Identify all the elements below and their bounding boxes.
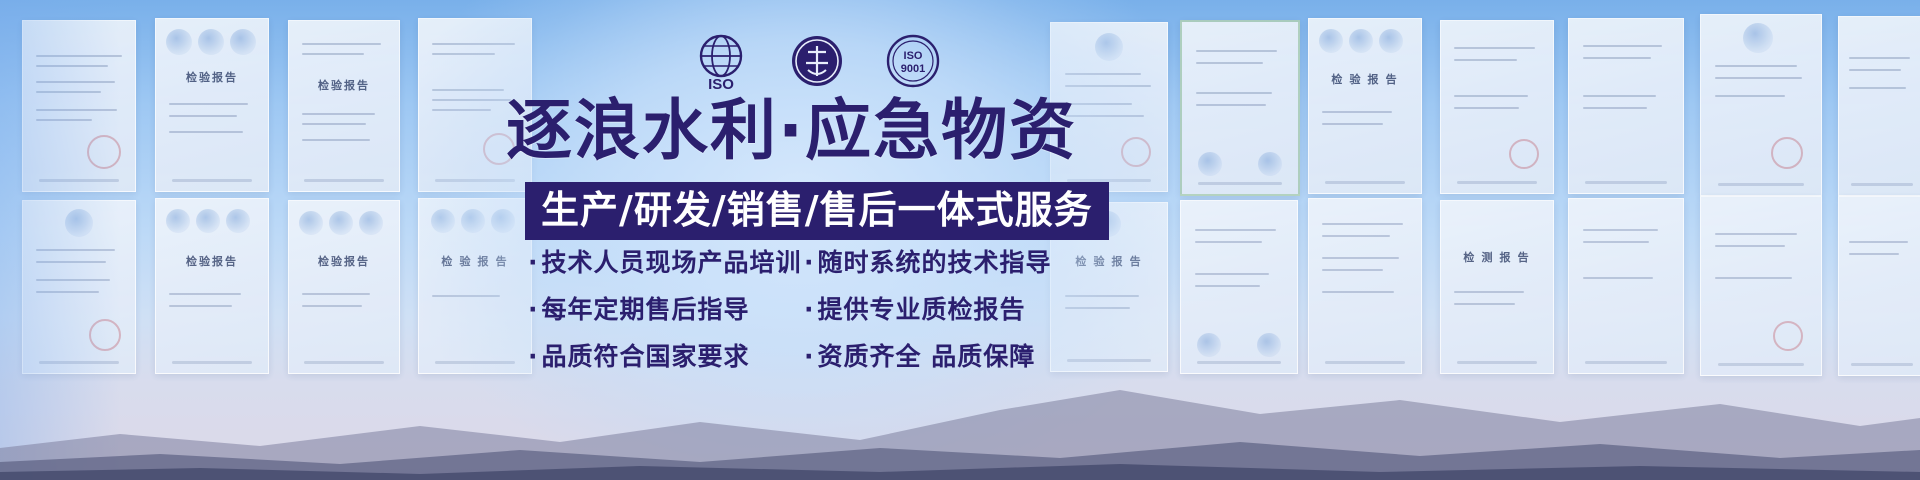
certificate-title: 检 验 报 告 [1331, 71, 1398, 87]
certification-badges: ISO ISO 9001 [690, 30, 944, 92]
feature-text: 每年定期售后指导 [542, 295, 750, 324]
feature-item: ·随时系统的技术指导 [804, 248, 1052, 278]
certificate-thumb [1308, 198, 1422, 374]
certificate-title: 检 验 报 告 [441, 253, 508, 269]
certificate-thumb: 检验报告 [288, 200, 400, 374]
certificate-thumb [1700, 196, 1822, 376]
certificate-thumb: 检验报告 [288, 20, 400, 192]
svg-text:9001: 9001 [901, 63, 925, 75]
banner-headline: 逐浪水利·应急物资 [506, 96, 1077, 166]
feature-list: ·技术人员现场产品培训 ·随时系统的技术指导 ·每年定期售后指导 ·提供专业质检… [528, 248, 1058, 389]
bullet-dot-icon: · [528, 295, 539, 324]
feature-row: ·技术人员现场产品培训 ·随时系统的技术指导 [528, 248, 1058, 278]
banner-subtitle-bar: 生产/研发/销售/售后一体式服务 [525, 182, 1109, 240]
bullet-dot-icon: · [528, 342, 539, 371]
feature-text: 品质符合国家要求 [542, 342, 750, 371]
certificate-wall: 检验报告 检验报告 [0, 0, 1920, 480]
certificate-thumb: 检 测 报 告 [1440, 200, 1554, 374]
certificate-title: 检验报告 [318, 77, 370, 93]
certificate-thumb: 检验报告 [155, 198, 269, 374]
certificate-title: 检 验 报 告 [1075, 253, 1142, 269]
certificate-title: 检验报告 [186, 69, 238, 85]
quality-inspection-icon [786, 30, 848, 92]
feature-row: ·品质符合国家要求 ·资质齐全 品质保障 [528, 342, 1058, 372]
feature-text: 技术人员现场产品培训 [542, 248, 802, 277]
feature-item: ·资质齐全 品质保障 [804, 342, 1035, 372]
certificate-thumb [22, 20, 136, 192]
certificate-thumb [1180, 20, 1300, 196]
certificate-title: 检验报告 [318, 253, 370, 269]
certificate-title: 检 测 报 告 [1463, 249, 1530, 265]
certificate-thumb [1180, 200, 1298, 374]
bullet-dot-icon: · [804, 342, 815, 371]
certificate-thumb [1568, 198, 1684, 374]
feature-text: 资质齐全 品质保障 [818, 342, 1036, 371]
feature-item: ·提供专业质检报告 [804, 295, 1026, 325]
certificate-thumb [1700, 14, 1822, 196]
feature-text: 提供专业质检报告 [818, 295, 1026, 324]
iso-globe-icon: ISO [690, 30, 752, 92]
certificate-thumb [1838, 16, 1920, 196]
feature-item: ·每年定期售后指导 [528, 295, 804, 325]
bullet-dot-icon: · [528, 248, 539, 277]
feature-item: ·品质符合国家要求 [528, 342, 804, 372]
certificate-thumb: 检验报告 [155, 18, 269, 192]
bullet-dot-icon: · [804, 295, 815, 324]
certificate-thumb: 检 验 报 告 [418, 198, 532, 374]
feature-text: 随时系统的技术指导 [818, 248, 1052, 277]
certificate-thumb [1440, 20, 1554, 194]
feature-row: ·每年定期售后指导 ·提供专业质检报告 [528, 295, 1058, 325]
certificate-title: 检验报告 [186, 253, 238, 269]
iso-badge-label: ISO [708, 76, 734, 92]
certificate-thumb [22, 200, 136, 374]
feature-item: ·技术人员现场产品培训 [528, 248, 804, 278]
certificate-thumb [1838, 196, 1920, 376]
svg-text:ISO: ISO [904, 50, 923, 62]
certificate-thumb [1568, 18, 1684, 194]
promo-banner: 检验报告 检验报告 [0, 0, 1920, 480]
iso-9001-icon: ISO 9001 [882, 30, 944, 92]
bullet-dot-icon: · [804, 248, 815, 277]
certificate-thumb: 检 验 报 告 [1308, 18, 1422, 194]
